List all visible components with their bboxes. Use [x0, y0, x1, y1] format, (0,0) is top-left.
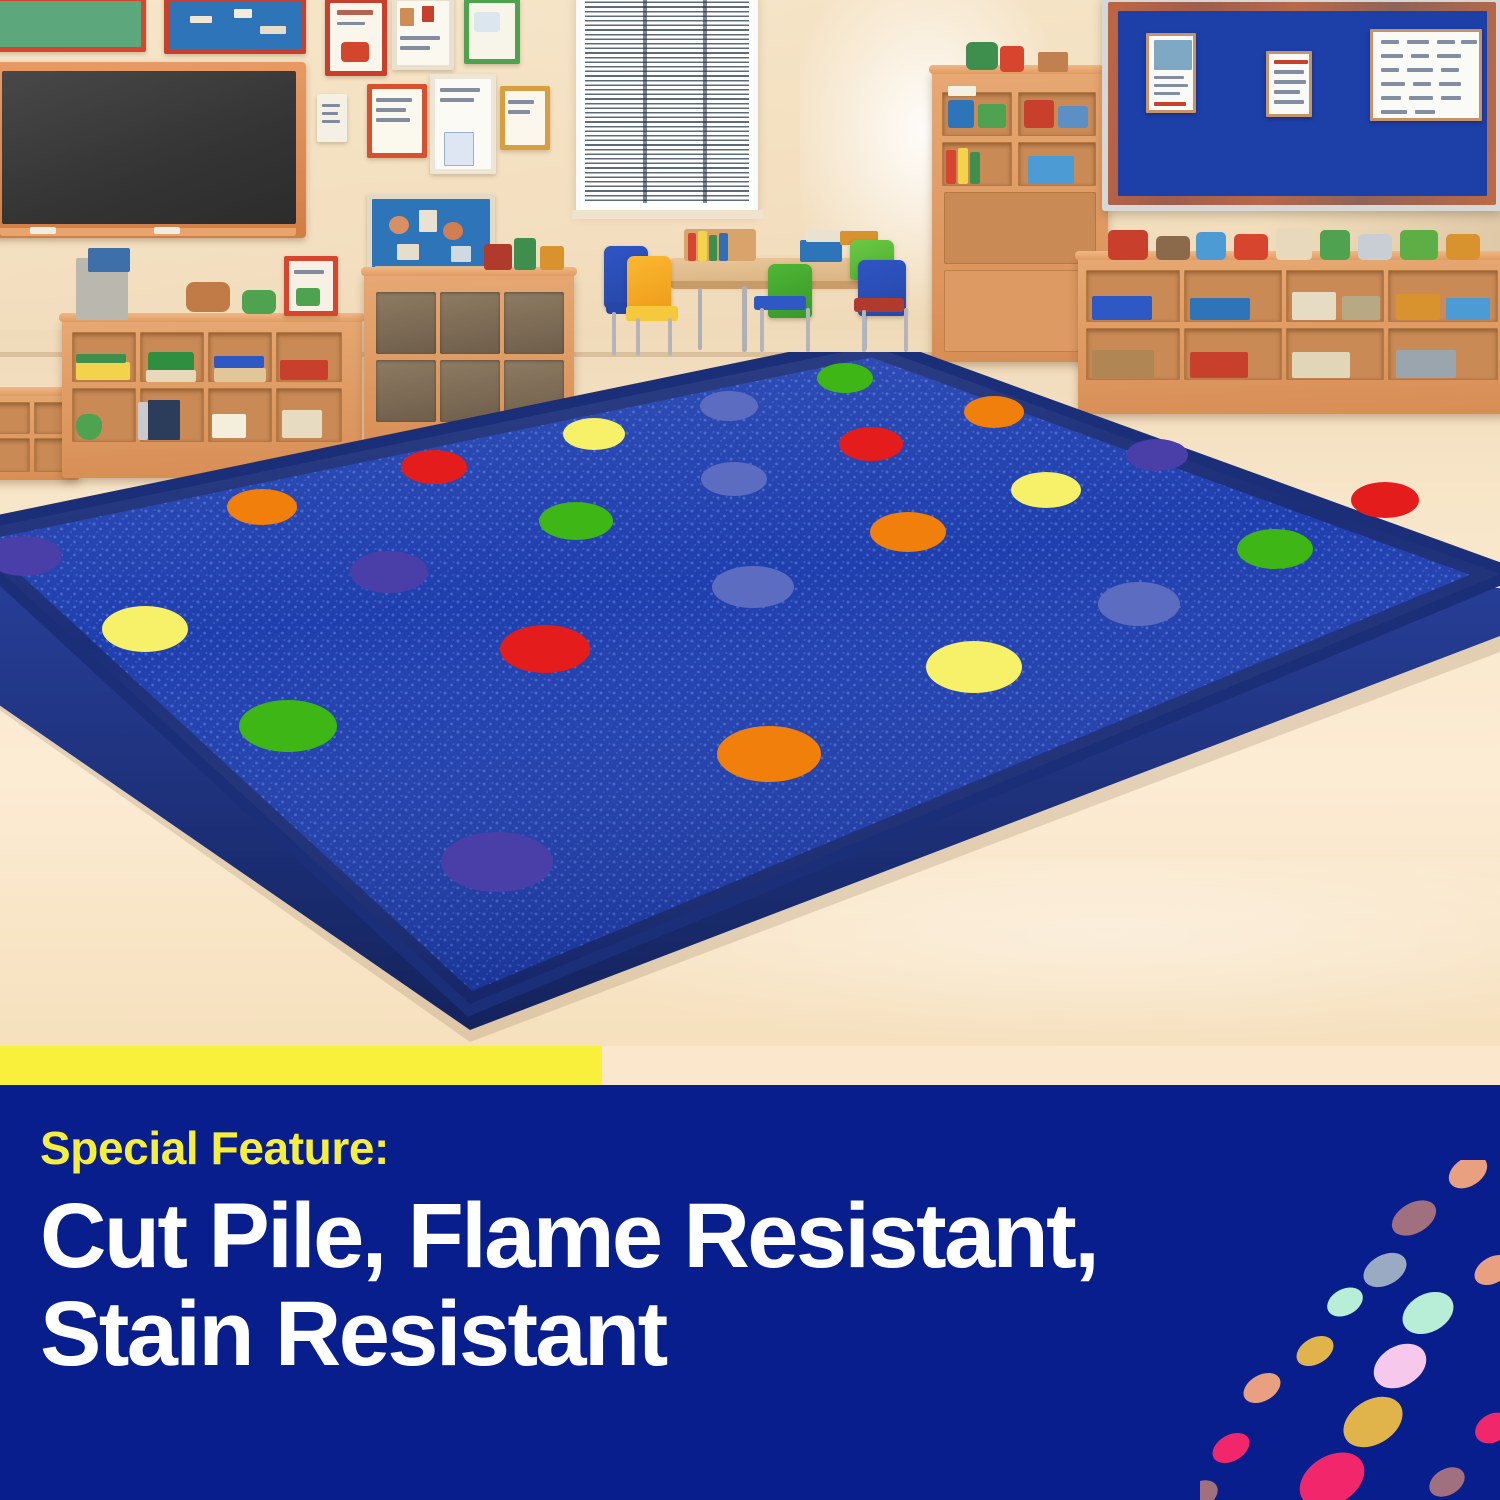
toy-figure	[1000, 46, 1024, 72]
decor	[484, 244, 512, 270]
book	[970, 152, 980, 184]
confetti-dot	[1334, 1386, 1412, 1457]
chalkboard	[0, 62, 306, 238]
plant	[966, 42, 998, 70]
confetti-dot	[1469, 1249, 1500, 1292]
pot	[1038, 52, 1068, 72]
toy	[948, 100, 974, 128]
rug-dot	[500, 625, 590, 673]
artwork-display	[88, 248, 130, 272]
toy	[1058, 106, 1088, 128]
rug-dot	[350, 551, 428, 593]
poster	[367, 84, 427, 158]
confetti-dot	[1240, 1495, 1311, 1500]
rug-dot	[227, 489, 297, 525]
book	[719, 233, 728, 261]
toy	[1320, 230, 1350, 260]
rug-dot	[817, 363, 873, 393]
poster	[317, 94, 347, 142]
bulletin-board	[1102, 0, 1500, 211]
confetti-dot	[1424, 1461, 1470, 1500]
sculpture	[242, 290, 276, 314]
confetti-dot	[1207, 1427, 1255, 1470]
window-sill	[572, 210, 764, 219]
poster	[500, 86, 550, 150]
rug-dot	[1126, 439, 1188, 471]
polka-dot-area-rug	[0, 352, 1500, 1046]
rug-dot	[700, 391, 758, 421]
toy	[1234, 234, 1268, 260]
confetti-dot	[1200, 1474, 1223, 1500]
pinned-chart	[1370, 29, 1482, 121]
rug-dot	[1011, 472, 1081, 508]
rug-dot	[870, 512, 946, 552]
toy	[1446, 234, 1480, 260]
poster	[392, 0, 454, 70]
rug-dot	[102, 606, 188, 652]
supply-box	[800, 240, 842, 262]
confetti-dot	[1290, 1441, 1375, 1500]
toy	[1024, 100, 1054, 128]
decor	[540, 246, 564, 270]
book	[698, 231, 707, 261]
toy	[1156, 236, 1190, 260]
supplies	[1292, 292, 1336, 320]
chalkboard-surface	[2, 71, 296, 224]
rug-svg	[0, 352, 1500, 1046]
pinned-worksheet	[1146, 33, 1196, 113]
decor	[514, 238, 536, 270]
label	[948, 86, 976, 96]
framed-sign	[284, 256, 338, 316]
pinned-worksheet	[1266, 51, 1312, 117]
rug-dot	[1351, 482, 1419, 518]
rug-dot	[839, 427, 903, 461]
toy	[1400, 230, 1438, 260]
toy	[1108, 230, 1148, 260]
toy	[1358, 234, 1392, 260]
wall-artwork	[0, 0, 146, 52]
poster	[464, 0, 520, 64]
toy	[1276, 228, 1312, 260]
rug-dot	[401, 450, 467, 484]
confetti-dot	[1443, 1160, 1493, 1195]
confetti-dot	[1470, 1406, 1500, 1449]
rug-dot	[441, 832, 553, 892]
toy	[1196, 232, 1226, 260]
toy	[978, 104, 1006, 128]
rug-dot	[964, 396, 1024, 428]
sculpture	[186, 282, 230, 312]
window-blinds	[585, 0, 749, 203]
book	[688, 233, 696, 261]
wall-artwork	[164, 0, 306, 54]
rug-dot	[1237, 529, 1313, 569]
confetti-dot	[1395, 1284, 1461, 1343]
rug-dot	[717, 726, 821, 782]
banner-copy: Special Feature: Cut Pile, Flame Resista…	[40, 1125, 1400, 1384]
feature-banner: Special Feature: Cut Pile, Flame Resista…	[0, 1085, 1500, 1500]
rug-dot	[701, 462, 767, 496]
banner-headline-line2: Stain Resistant	[40, 1285, 1400, 1383]
rug-dot	[1098, 582, 1180, 626]
book	[958, 148, 968, 184]
rug-dot	[926, 641, 1022, 693]
bulletin-board-surface	[1118, 11, 1487, 196]
rug-dot	[239, 700, 337, 752]
window-glass	[585, 0, 749, 203]
book	[946, 150, 956, 184]
supplies	[1342, 296, 1380, 320]
rug-dot	[539, 502, 613, 540]
bin	[1092, 296, 1152, 320]
window	[576, 0, 758, 214]
supplies	[1396, 294, 1440, 320]
classroom-photo	[0, 0, 1500, 1046]
book	[709, 235, 717, 261]
banner-eyebrow: Special Feature:	[40, 1125, 1400, 1173]
poster	[430, 74, 496, 174]
rug-dot	[563, 418, 625, 450]
supplies	[1446, 298, 1490, 320]
banner-headline-line1: Cut Pile, Flame Resistant,	[40, 1187, 1400, 1285]
rug-dot	[712, 566, 794, 608]
box	[1028, 156, 1074, 184]
accent-tab	[0, 1046, 602, 1085]
bin	[1190, 298, 1250, 320]
product-graphic: Special Feature: Cut Pile, Flame Resista…	[0, 0, 1500, 1500]
poster	[325, 0, 387, 76]
